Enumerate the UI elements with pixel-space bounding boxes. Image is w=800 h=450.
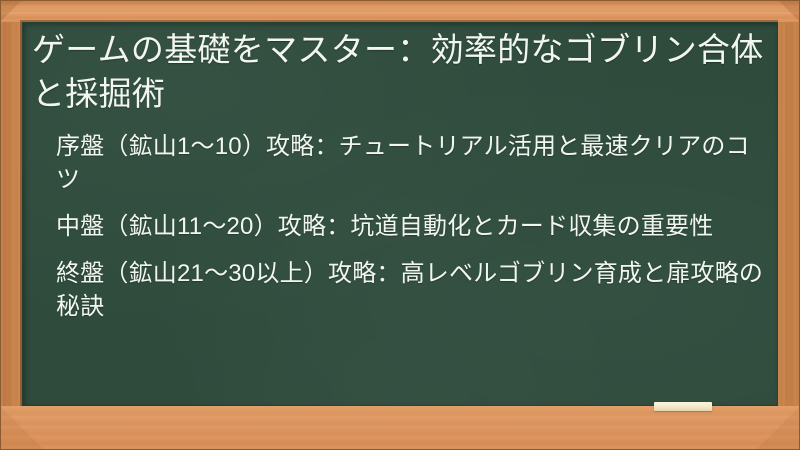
frame-top-rail: [0, 0, 800, 22]
slide-title: ゲームの基礎をマスター：効率的なゴブリン合体と採掘術: [30, 28, 768, 116]
frame-bottom-ledge: [0, 406, 800, 450]
chalk-stick-icon: [654, 402, 712, 411]
blackboard-slide: ゲームの基礎をマスター：効率的なゴブリン合体と採掘術 序盤（鉱山1〜10）攻略：…: [0, 0, 800, 450]
list-item: 序盤（鉱山1〜10）攻略：チュートリアル活用と最速クリアのコツ: [56, 130, 768, 196]
bullet-list: 序盤（鉱山1〜10）攻略：チュートリアル活用と最速クリアのコツ 中盤（鉱山11〜…: [30, 130, 768, 324]
blackboard-surface: ゲームの基礎をマスター：効率的なゴブリン合体と採掘術 序盤（鉱山1〜10）攻略：…: [22, 22, 778, 406]
list-item: 中盤（鉱山11〜20）攻略：坑道自動化とカード収集の重要性: [56, 210, 768, 243]
slide-content: ゲームの基礎をマスター：効率的なゴブリン合体と採掘術 序盤（鉱山1〜10）攻略：…: [22, 22, 778, 406]
list-item: 終盤（鉱山21〜30以上）攻略：高レベルゴブリン育成と扉攻略の秘訣: [56, 257, 768, 323]
